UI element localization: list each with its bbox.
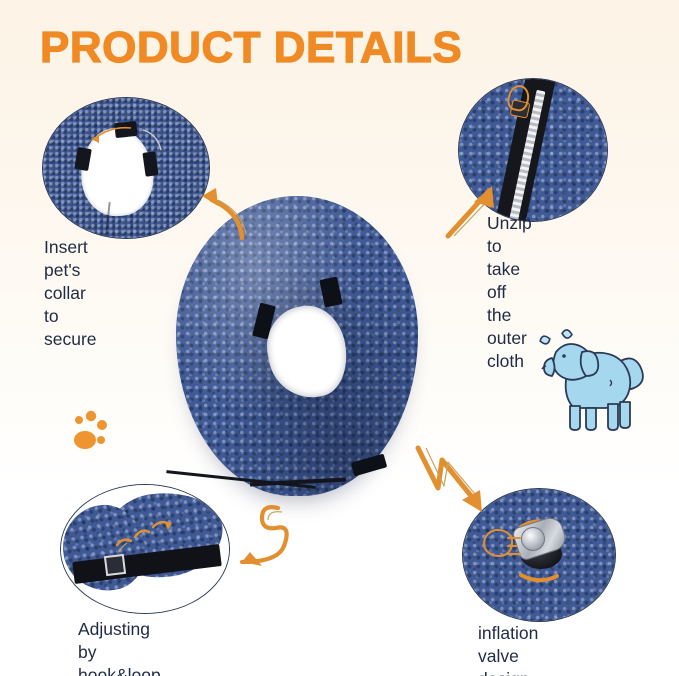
hook-and-loop-strap-photo	[60, 484, 230, 614]
collar-caption: Insert pet's collar to secure	[44, 236, 97, 351]
paw-toe-2	[86, 411, 96, 421]
paw-toe-4	[97, 436, 105, 444]
dog-ear	[581, 351, 599, 376]
dog-leg-front	[570, 406, 580, 430]
page-title: PRODUCT DETAILS	[40, 22, 462, 74]
dog-illustration	[520, 318, 652, 434]
straight-arrow-up-right	[442, 178, 508, 242]
dog-leg-front2	[586, 408, 596, 430]
paw-print-icon	[70, 410, 118, 454]
paw-toe-3	[97, 420, 107, 430]
heart-icon	[561, 329, 572, 338]
valve-knob	[521, 527, 545, 551]
curved-arrow-up-left	[186, 178, 258, 242]
paw-pad	[74, 431, 96, 449]
zigzag-arrow-down-right	[412, 444, 500, 524]
strap-motion-arrows	[61, 485, 229, 613]
heart-icon	[539, 335, 550, 345]
product-details-infographic: PRODUCT DETAILS Insert pet's collar to s…	[0, 0, 679, 676]
valve-caption: inflation valve design	[478, 622, 538, 676]
strap-caption: Adjusting by hook&loop	[78, 618, 161, 676]
dog-eye	[562, 354, 566, 358]
dog-leg-back	[608, 404, 618, 430]
paw-toe-1	[75, 416, 83, 424]
dog-leg-back2	[620, 402, 630, 428]
curled-arrow-down-left	[216, 500, 296, 570]
